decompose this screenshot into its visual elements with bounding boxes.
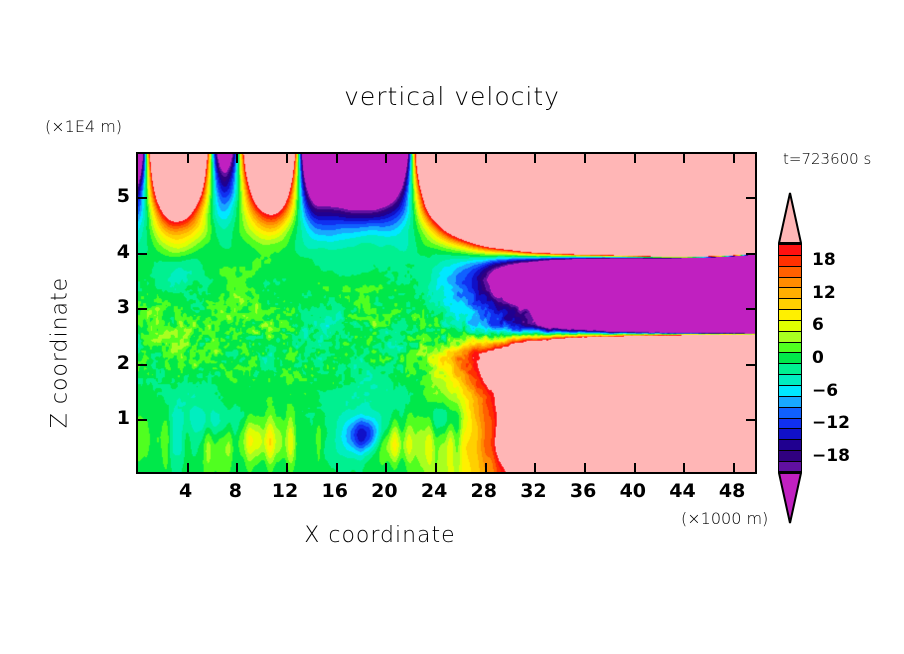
colorbar-band: [778, 396, 802, 407]
y-tick-label: 4: [112, 241, 130, 263]
x-tick-mark: [584, 463, 586, 472]
x-tick-mark: [435, 463, 437, 472]
colorbar-band: [778, 418, 802, 429]
y-tick-mark: [746, 197, 755, 199]
y-tick-label: 1: [112, 407, 130, 429]
x-tick-label: 44: [669, 480, 695, 502]
colorbar-tick-label: 6: [812, 315, 824, 335]
colorbar-band: [778, 309, 802, 320]
colorbar-band: [778, 352, 802, 363]
colorbar-tick-label: 12: [812, 283, 836, 303]
x-tick-label: 12: [272, 480, 298, 502]
x-tick-mark: [485, 463, 487, 472]
colorbar-band: [778, 450, 802, 461]
x-tick-mark: [385, 154, 387, 163]
colorbar-band: [778, 407, 802, 418]
x-tick-mark: [733, 154, 735, 163]
colorbar-band: [778, 298, 802, 309]
x-tick-mark: [286, 154, 288, 163]
x-tick-mark: [187, 154, 189, 163]
x-tick-label: 48: [719, 480, 745, 502]
x-tick-mark: [286, 463, 288, 472]
x-tick-mark: [584, 154, 586, 163]
x-tick-mark: [236, 463, 238, 472]
colorbar-band: [778, 461, 802, 472]
x-tick-mark: [485, 154, 487, 163]
colorbar-band: [778, 287, 802, 298]
y-tick-mark: [746, 253, 755, 255]
colorbar-band: [778, 244, 802, 255]
x-tick-label: 36: [570, 480, 596, 502]
y-tick-mark: [746, 364, 755, 366]
x-tick-label: 16: [321, 480, 347, 502]
x-axis-title: X coordinate: [0, 523, 760, 548]
x-tick-mark: [683, 463, 685, 472]
x-tick-mark: [733, 463, 735, 472]
colorbar-band: [778, 266, 802, 277]
x-tick-label: 24: [421, 480, 447, 502]
y-tick-mark: [138, 364, 147, 366]
colorbar-band: [778, 385, 802, 396]
x-tick-label: 8: [229, 480, 242, 502]
y-tick-mark: [138, 197, 147, 199]
x-axis-unit-label: (×1000 m): [681, 509, 768, 528]
y-tick-label: 5: [112, 185, 130, 207]
colorbar: [778, 244, 802, 472]
x-tick-mark: [683, 154, 685, 163]
y-tick-mark: [138, 308, 147, 310]
x-tick-mark: [385, 463, 387, 472]
x-tick-mark: [435, 154, 437, 163]
colorbar-cap-top: [778, 192, 802, 244]
contour-plot-area: [136, 152, 757, 474]
x-tick-mark: [336, 154, 338, 163]
colorbar-band: [778, 320, 802, 331]
colorbar-band: [778, 255, 802, 266]
x-tick-label: 28: [471, 480, 497, 502]
colorbar-tick-label: −6: [812, 381, 838, 401]
y-axis-title: Z coordinate: [48, 233, 73, 473]
colorbar-band: [778, 374, 802, 385]
colorbar-band: [778, 428, 802, 439]
colorbar-band: [778, 439, 802, 450]
colorbar-band: [778, 277, 802, 288]
x-tick-mark: [634, 463, 636, 472]
colorbar-band: [778, 331, 802, 342]
colorbar-tick-label: 0: [812, 348, 824, 368]
x-tick-mark: [634, 154, 636, 163]
colorbar-band: [778, 363, 802, 374]
chart-title: vertical velocity: [0, 82, 904, 111]
x-tick-label: 40: [620, 480, 646, 502]
x-tick-label: 20: [371, 480, 397, 502]
colorbar-tick-label: −18: [812, 446, 850, 466]
y-tick-mark: [138, 253, 147, 255]
colorbar-cap-bottom: [778, 472, 802, 524]
x-tick-label: 4: [179, 480, 192, 502]
x-tick-mark: [236, 154, 238, 163]
y-tick-mark: [746, 419, 755, 421]
y-axis-unit-label: (×1E4 m): [45, 117, 122, 136]
x-tick-mark: [534, 463, 536, 472]
x-tick-mark: [534, 154, 536, 163]
x-tick-mark: [336, 463, 338, 472]
colorbar-tick-label: −12: [812, 413, 850, 433]
y-tick-label: 3: [112, 296, 130, 318]
x-tick-mark: [187, 463, 189, 472]
colorbar-band: [778, 342, 802, 353]
vertical-velocity-field: [138, 154, 755, 472]
y-tick-label: 2: [112, 352, 130, 374]
colorbar-tick-label: 18: [812, 250, 836, 270]
timestamp-annotation: t=723600 s: [783, 150, 871, 168]
y-tick-mark: [746, 308, 755, 310]
x-tick-label: 32: [520, 480, 546, 502]
y-tick-mark: [138, 419, 147, 421]
